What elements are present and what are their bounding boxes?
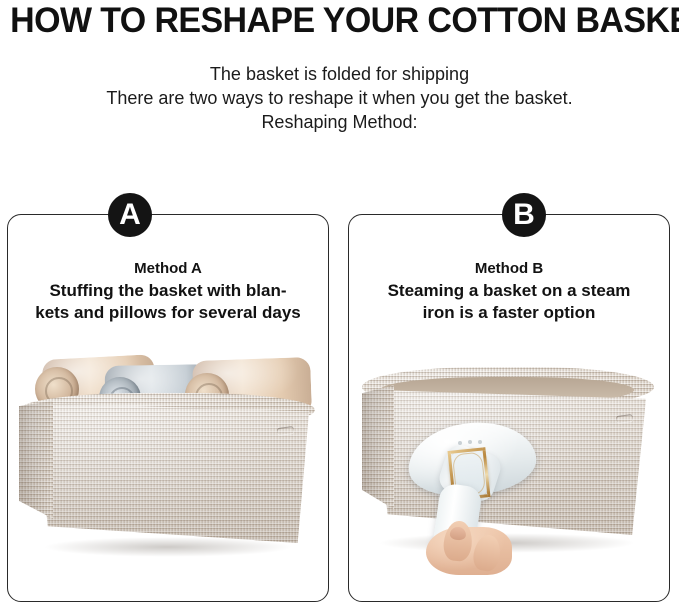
panel-a-text: Method A Stuffing the basket with blan- … [14,259,322,324]
method-b-photo [350,345,668,600]
steamer-indicator-dot-3 [478,440,482,444]
basket-side-a [19,401,53,529]
basket-side-b [362,385,394,523]
method-panel-b: B Method B Steaming a basket on a steam … [348,214,670,602]
method-a-photo [9,345,327,600]
steamer-indicator-dot-2 [468,440,472,444]
method-a-desc-line-2: kets and pillows for several days [14,302,322,324]
method-b-desc-line-2: iron is a faster option [355,302,663,324]
method-a-label: Method A [14,259,322,279]
basket-front-a [25,403,309,543]
panel-b-text: Method B Steaming a basket on a steam ir… [355,259,663,324]
method-a-desc-line-1: Stuffing the basket with blan- [14,280,322,302]
steamer-indicator-dot-1 [458,441,462,445]
method-b-desc-line-1: Steaming a basket on a steam [355,280,663,302]
badge-b: B [502,193,546,237]
method-a-description: Stuffing the basket with blan- kets and … [14,279,322,324]
badge-a: A [108,193,152,237]
method-b-description: Steaming a basket on a steam iron is a f… [355,279,663,324]
method-panel-a: A Method A Stuffing the basket with blan… [7,214,329,602]
method-panels: A Method A Stuffing the basket with blan… [0,0,679,611]
method-b-label: Method B [355,259,663,279]
